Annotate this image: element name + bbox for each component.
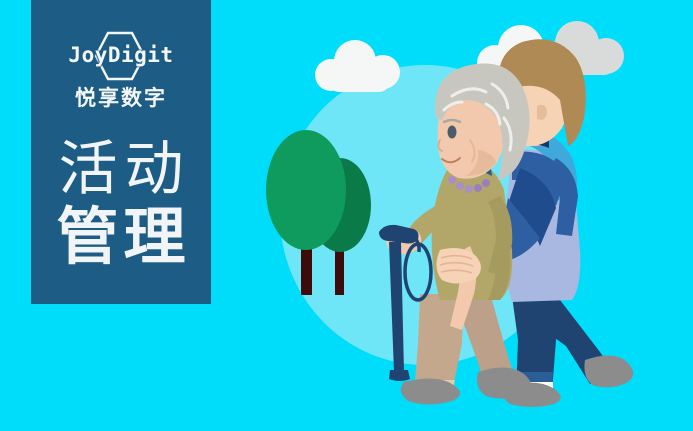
woman-eye (448, 126, 457, 139)
page-title-line-2: 管理 (31, 202, 211, 272)
logo-wordmark: JoyDigit (31, 42, 211, 68)
banner-root: JoyDigit 悦享数字 活动 管理 (0, 0, 693, 431)
page-title-line-1: 活动 (31, 136, 211, 202)
logo-block: JoyDigit 悦享数字 (31, 30, 211, 111)
page-title: 活动 管理 (31, 136, 211, 272)
brand-panel: JoyDigit 悦享数字 活动 管理 (31, 0, 211, 304)
cane-ferrule (389, 370, 410, 381)
logo-chinese-name: 悦享数字 (31, 85, 211, 111)
logo-mark: JoyDigit (31, 30, 211, 82)
